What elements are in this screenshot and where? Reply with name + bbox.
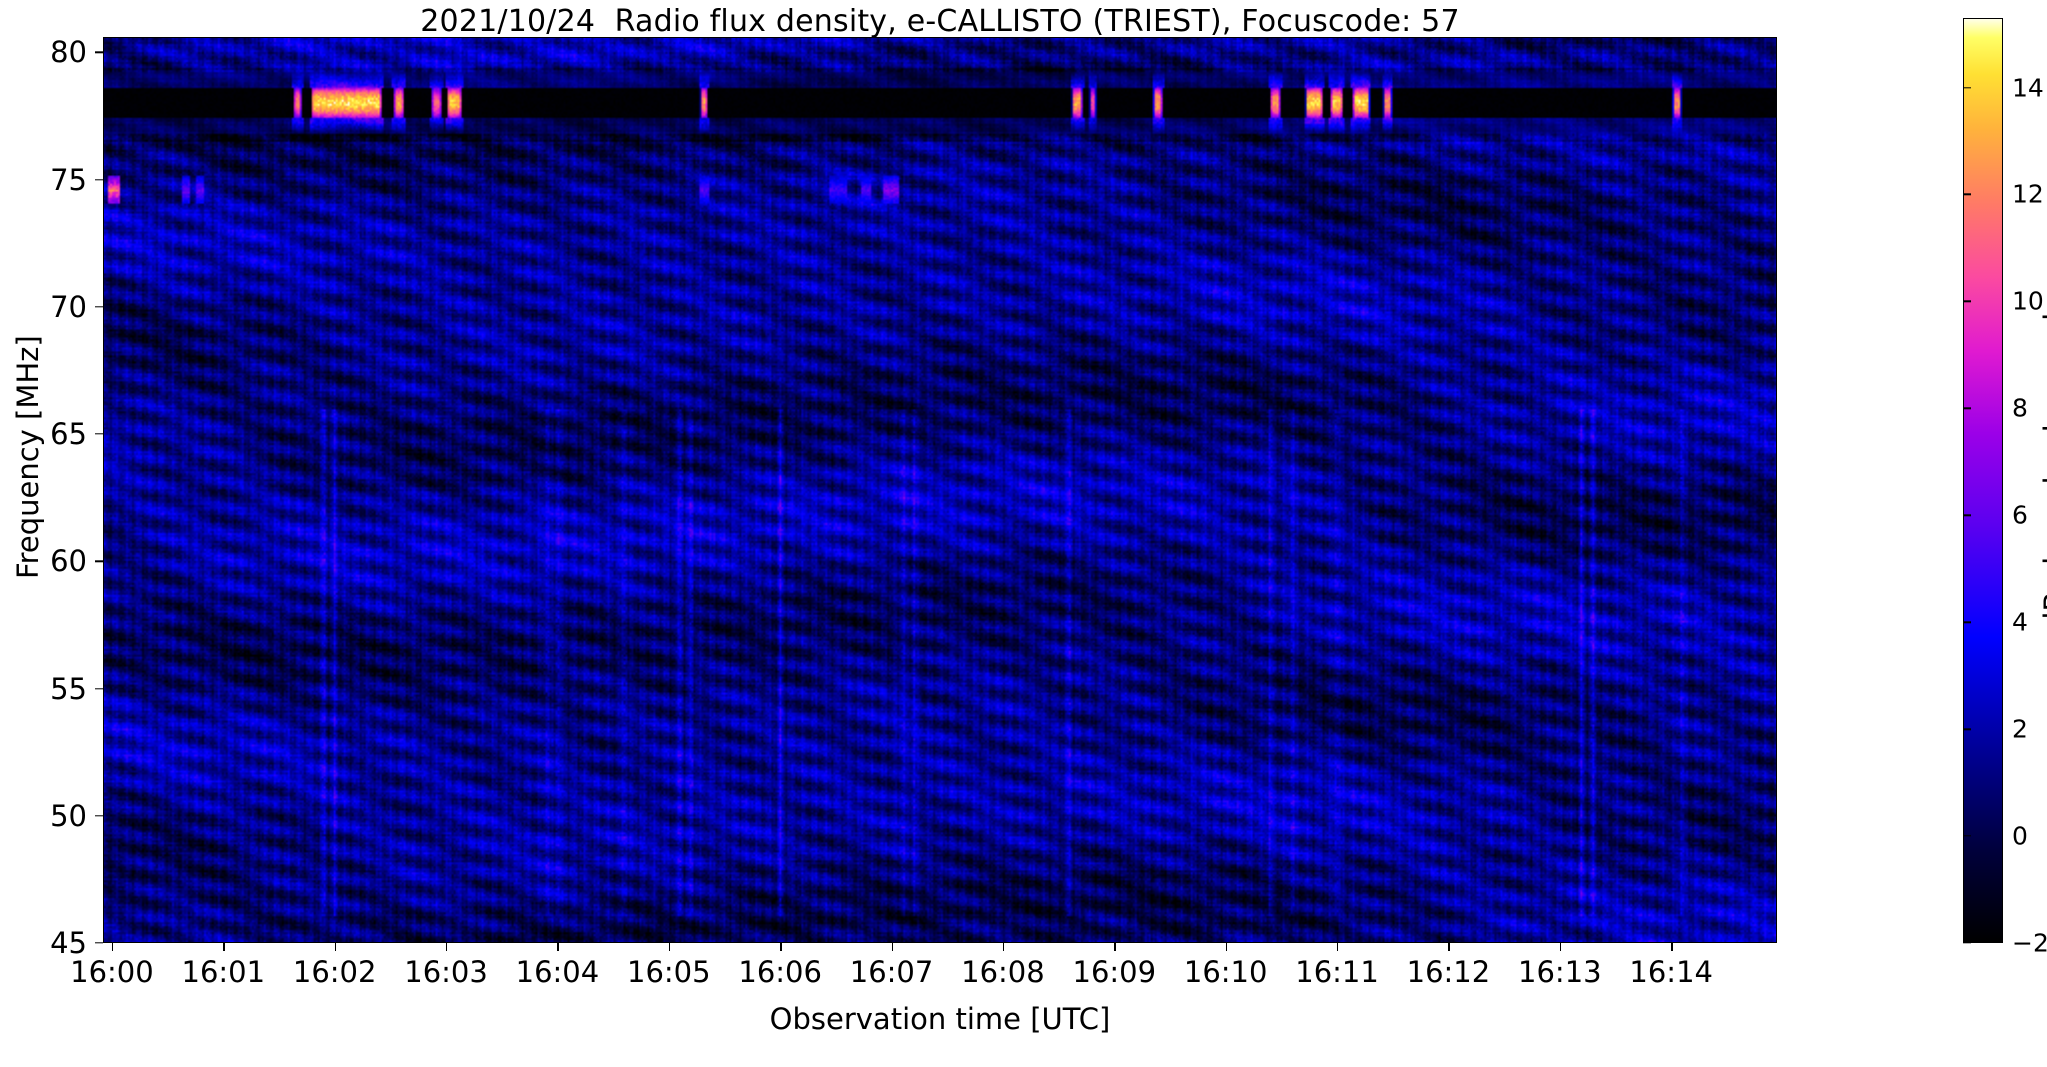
colorbar-tick-mark <box>1963 515 1971 516</box>
x-tick-mark <box>1337 943 1338 951</box>
x-tick-label: 16:03 <box>404 955 488 989</box>
y-tick-mark <box>95 433 103 434</box>
colorbar-tick-label: 10 <box>2012 287 2044 316</box>
x-tick-mark <box>1560 943 1561 951</box>
y-tick-label: 80 <box>17 35 87 69</box>
x-axis-label: Observation time [UTC] <box>770 1002 1111 1036</box>
colorbar-tick-label: 12 <box>2012 180 2044 209</box>
x-tick-label: 16:11 <box>1295 955 1379 989</box>
colorbar-tick-mark <box>1963 194 1971 195</box>
x-tick-mark <box>1671 943 1672 951</box>
spectrogram-plot-area[interactable] <box>103 37 1777 943</box>
colorbar-tick-label: 14 <box>2012 73 2044 102</box>
colorbar-tick-mark <box>1963 942 1971 943</box>
x-tick-mark <box>780 943 781 951</box>
spectrogram-image <box>104 38 1776 942</box>
y-tick-mark <box>95 688 103 689</box>
x-tick-mark <box>669 943 670 951</box>
x-tick-label: 16:05 <box>627 955 711 989</box>
colorbar-tick-label: 6 <box>2012 501 2028 530</box>
colorbar-tick-mark <box>1963 835 1971 836</box>
y-tick-mark <box>95 306 103 307</box>
colorbar-label: dB above background <box>2038 330 2047 630</box>
x-tick-label: 16:08 <box>961 955 1045 989</box>
colorbar-gradient <box>1964 19 2002 942</box>
x-tick-mark <box>1003 943 1004 951</box>
colorbar-tick-label: 2 <box>2012 715 2028 744</box>
x-tick-label: 16:06 <box>738 955 822 989</box>
x-tick-mark <box>1226 943 1227 951</box>
colorbar-tick-label: 8 <box>2012 394 2028 423</box>
colorbar-tick-mark <box>1963 408 1971 409</box>
spectrogram-figure: 2021/10/24 Radio flux density, e-CALLIST… <box>0 0 2047 1067</box>
x-tick-mark <box>223 943 224 951</box>
figure-title: 2021/10/24 Radio flux density, e-CALLIST… <box>0 4 1880 39</box>
y-tick-mark <box>95 52 103 53</box>
x-tick-mark <box>446 943 447 951</box>
colorbar[interactable] <box>1963 18 2003 943</box>
x-tick-label: 16:12 <box>1407 955 1491 989</box>
x-tick-mark <box>892 943 893 951</box>
y-tick-mark <box>95 942 103 943</box>
x-tick-mark <box>335 943 336 951</box>
x-tick-mark <box>1114 943 1115 951</box>
y-tick-mark <box>95 561 103 562</box>
y-tick-label: 65 <box>17 417 87 451</box>
x-tick-mark <box>557 943 558 951</box>
x-tick-label: 16:00 <box>70 955 154 989</box>
colorbar-tick-mark <box>1963 87 1971 88</box>
x-tick-label: 16:04 <box>516 955 600 989</box>
colorbar-tick-label: 0 <box>2012 822 2028 851</box>
x-tick-label: 16:09 <box>1073 955 1157 989</box>
x-tick-label: 16:10 <box>1184 955 1268 989</box>
x-tick-label: 16:01 <box>181 955 265 989</box>
x-tick-label: 16:07 <box>850 955 934 989</box>
x-tick-mark <box>1448 943 1449 951</box>
x-tick-label: 16:02 <box>293 955 377 989</box>
x-tick-label: 16:13 <box>1518 955 1602 989</box>
y-tick-mark <box>95 179 103 180</box>
y-tick-label: 75 <box>17 163 87 197</box>
y-tick-label: 70 <box>17 290 87 324</box>
x-tick-label: 16:14 <box>1629 955 1713 989</box>
colorbar-tick-label: −2 <box>2012 929 2047 958</box>
y-tick-label: 50 <box>17 799 87 833</box>
colorbar-tick-mark <box>1963 728 1971 729</box>
y-tick-mark <box>95 815 103 816</box>
y-tick-label: 60 <box>17 544 87 578</box>
colorbar-tick-label: 4 <box>2012 608 2028 637</box>
colorbar-tick-mark <box>1963 621 1971 622</box>
colorbar-tick-mark <box>1963 301 1971 302</box>
x-tick-mark <box>112 943 113 951</box>
y-tick-label: 55 <box>17 672 87 706</box>
